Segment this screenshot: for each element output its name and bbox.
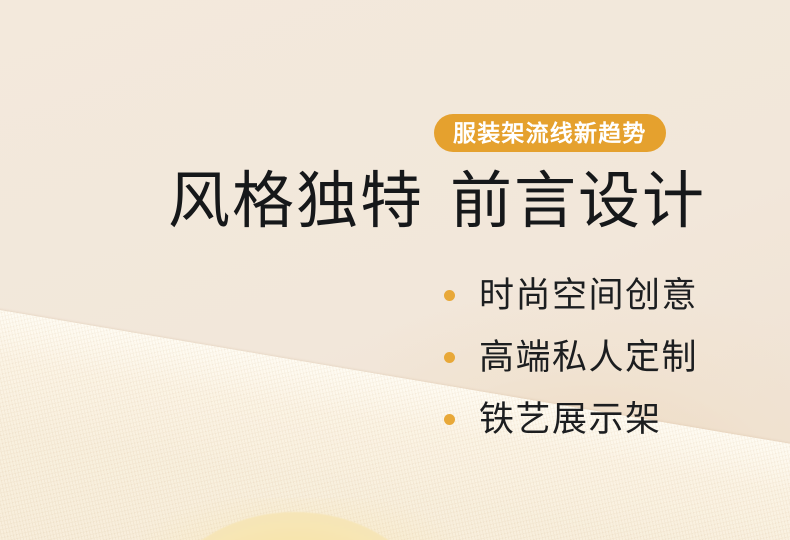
list-item: 高端私人定制 [444, 326, 698, 388]
bullet-dot-icon [444, 352, 455, 363]
headline-part-two: 前言设计 [450, 167, 706, 236]
bullet-dot-icon [444, 414, 455, 425]
feature-label: 铁艺展示架 [479, 402, 662, 437]
feature-label: 高端私人定制 [479, 340, 698, 375]
list-item: 时尚空间创意 [444, 264, 698, 326]
tagline-badge: 服装架流线新趋势 [434, 114, 666, 152]
list-item: 铁艺展示架 [444, 388, 698, 450]
page-title: 风格独特前言设计 [168, 166, 706, 237]
headline-part-one: 风格独特 [168, 167, 424, 236]
product-banner: 服装架流线新趋势 风格独特前言设计 时尚空间创意 高端私人定制 铁艺展示架 [0, 0, 790, 540]
feature-list: 时尚空间创意 高端私人定制 铁艺展示架 [444, 264, 698, 450]
feature-label: 时尚空间创意 [479, 278, 698, 313]
bullet-dot-icon [444, 290, 455, 301]
banner-content: 服装架流线新趋势 风格独特前言设计 时尚空间创意 高端私人定制 铁艺展示架 [0, 0, 790, 540]
